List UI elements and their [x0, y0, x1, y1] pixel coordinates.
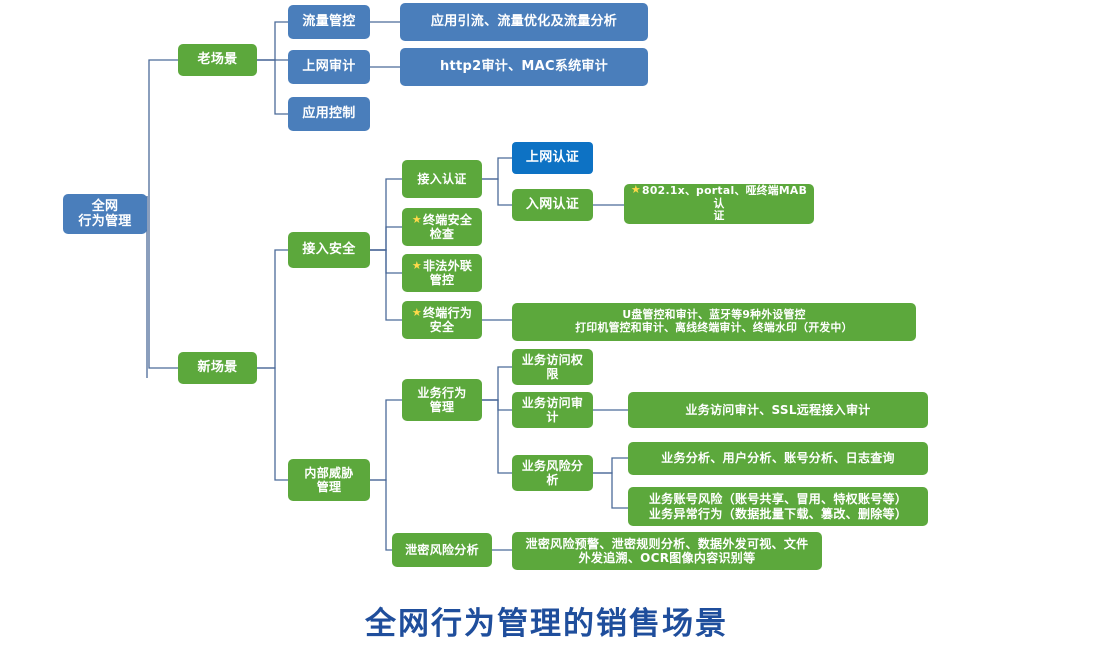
node-internet-audit[interactable]: 上网审计: [288, 50, 370, 84]
node-business-risk-detail-1[interactable]: 业务分析、用户分析、账号分析、日志查询: [628, 442, 928, 475]
node-access-security[interactable]: 接入安全: [288, 232, 370, 268]
mindmap-canvas: 全网 行为管理 老场景 流量管控 应用引流、流量优化及流量分析 上网审计 htt…: [0, 0, 1093, 662]
star-icon: ★: [412, 260, 422, 271]
node-business-access-audit-detail[interactable]: 业务访问审计、SSL远程接入审计: [628, 392, 928, 428]
node-traffic-control[interactable]: 流量管控: [288, 5, 370, 39]
node-app-control[interactable]: 应用控制: [288, 97, 370, 131]
node-illegal-external-connection-control[interactable]: ★非法外联 管控: [402, 254, 482, 292]
node-old-scene[interactable]: 老场景: [178, 44, 257, 76]
node-business-access-audit[interactable]: 业务访问审 计: [512, 392, 593, 428]
node-business-risk-detail-2[interactable]: 业务账号风险（账号共享、冒用、特权账号等） 业务异常行为（数据批量下载、篡改、删…: [628, 487, 928, 526]
node-root[interactable]: 全网 行为管理: [63, 194, 147, 234]
terminal-behavior-detail-line-2: 打印机管控和审计、离线终端审计、终端水印（开发中）: [575, 322, 852, 335]
node-business-risk-analysis[interactable]: 业务风险分 析: [512, 455, 593, 491]
node-access-authentication[interactable]: 接入认证: [402, 160, 482, 198]
node-terminal-security-check[interactable]: ★终端安全 检查: [402, 208, 482, 246]
node-leak-risk-analysis[interactable]: 泄密风险分析: [392, 533, 492, 567]
node-internet-audit-detail[interactable]: http2审计、MAC系统审计: [400, 48, 648, 86]
node-network-authentication[interactable]: 入网认证: [512, 189, 593, 221]
node-internal-threat-management[interactable]: 内部威胁 管理: [288, 459, 370, 501]
node-network-authentication-detail[interactable]: ★802.1x、portal、哑终端MAB认 证: [624, 184, 814, 224]
node-leak-risk-detail[interactable]: 泄密风险预警、泄密规则分析、数据外发可视、文件 外发追溯、OCR图像内容识别等: [512, 532, 822, 570]
node-internet-authentication[interactable]: 上网认证: [512, 142, 593, 174]
node-terminal-behavior-security-label: 终端行为 安全: [423, 306, 472, 334]
node-business-access-permission[interactable]: 业务访问权 限: [512, 349, 593, 385]
node-illegal-external-connection-control-label: 非法外联 管控: [423, 259, 472, 287]
node-terminal-security-check-label: 终端安全 检查: [423, 213, 472, 241]
node-traffic-control-detail[interactable]: 应用引流、流量优化及流量分析: [400, 3, 648, 41]
node-terminal-behavior-detail[interactable]: U盘管控和审计、蓝牙等9种外设管控 打印机管控和审计、离线终端审计、终端水印（开…: [512, 303, 916, 341]
leak-risk-detail-line-2: 外发追溯、OCR图像内容识别等: [579, 551, 756, 565]
star-icon: ★: [412, 307, 422, 318]
node-business-behavior-management[interactable]: 业务行为 管理: [402, 379, 482, 421]
node-terminal-behavior-security[interactable]: ★终端行为 安全: [402, 301, 482, 339]
node-network-authentication-detail-label: 802.1x、portal、哑终端MAB认 证: [642, 184, 807, 222]
star-icon: ★: [412, 214, 422, 225]
leak-risk-detail-line-1: 泄密风险预警、泄密规则分析、数据外发可视、文件: [526, 537, 809, 551]
star-icon: ★: [631, 184, 641, 195]
page-title: 全网行为管理的销售场景: [0, 598, 1093, 643]
node-new-scene[interactable]: 新场景: [178, 352, 257, 384]
